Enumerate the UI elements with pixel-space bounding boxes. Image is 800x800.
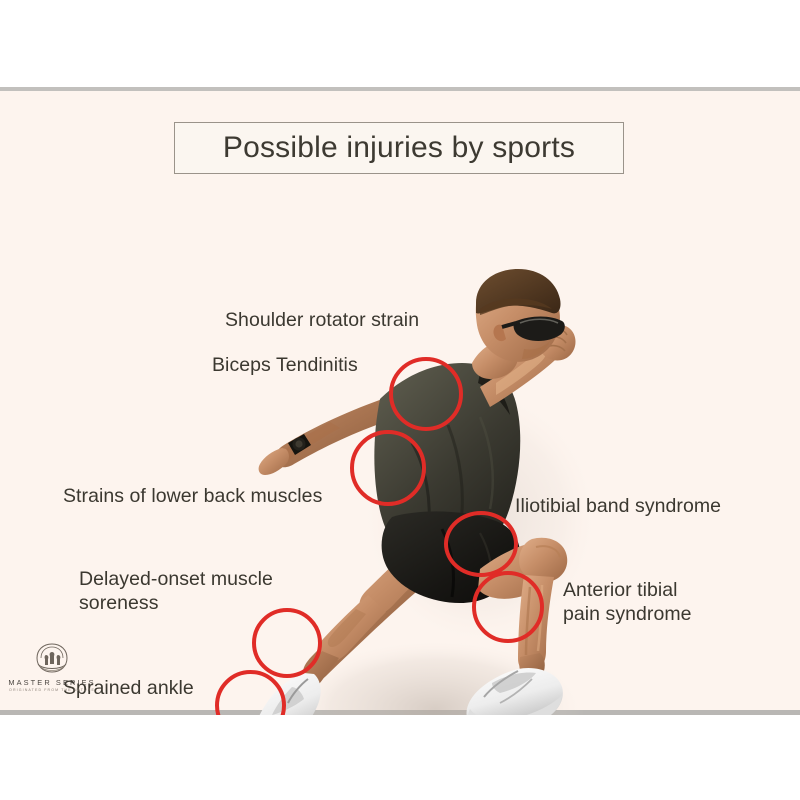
marker-calf [252,608,322,678]
logo-tagline: ORIGINATED FROM THE NATURE [8,688,96,692]
slide-root: Possible injuries by sports [0,0,800,800]
marker-shin [472,571,544,643]
slide-title-box: Possible injuries by sports [174,122,624,174]
label-iliotibial-band-syndrome: Iliotibial band syndrome [515,495,721,519]
master-series-logo: MASTER SERIES ORIGINATED FROM THE NATURE [8,642,96,700]
crest-icon [30,642,74,676]
marker-shoulder [389,357,463,431]
label-lower-back-strains: Strains of lower back muscles [63,485,322,509]
label-shoulder-rotator-strain: Shoulder rotator strain [225,309,419,333]
page-title: Possible injuries by sports [223,131,575,165]
slide-panel: Possible injuries by sports [0,87,800,715]
marker-knee-it-band [444,511,518,577]
panel-top-edge [0,87,800,91]
marker-lower-back [350,430,426,506]
label-biceps-tendinitis: Biceps Tendinitis [212,354,358,378]
label-delayed-onset-muscle-soreness: Delayed-onset muscle soreness [79,568,273,616]
label-anterior-tibial-pain-syndrome: Anterior tibial pain syndrome [563,579,692,627]
logo-name: MASTER SERIES [8,678,96,687]
